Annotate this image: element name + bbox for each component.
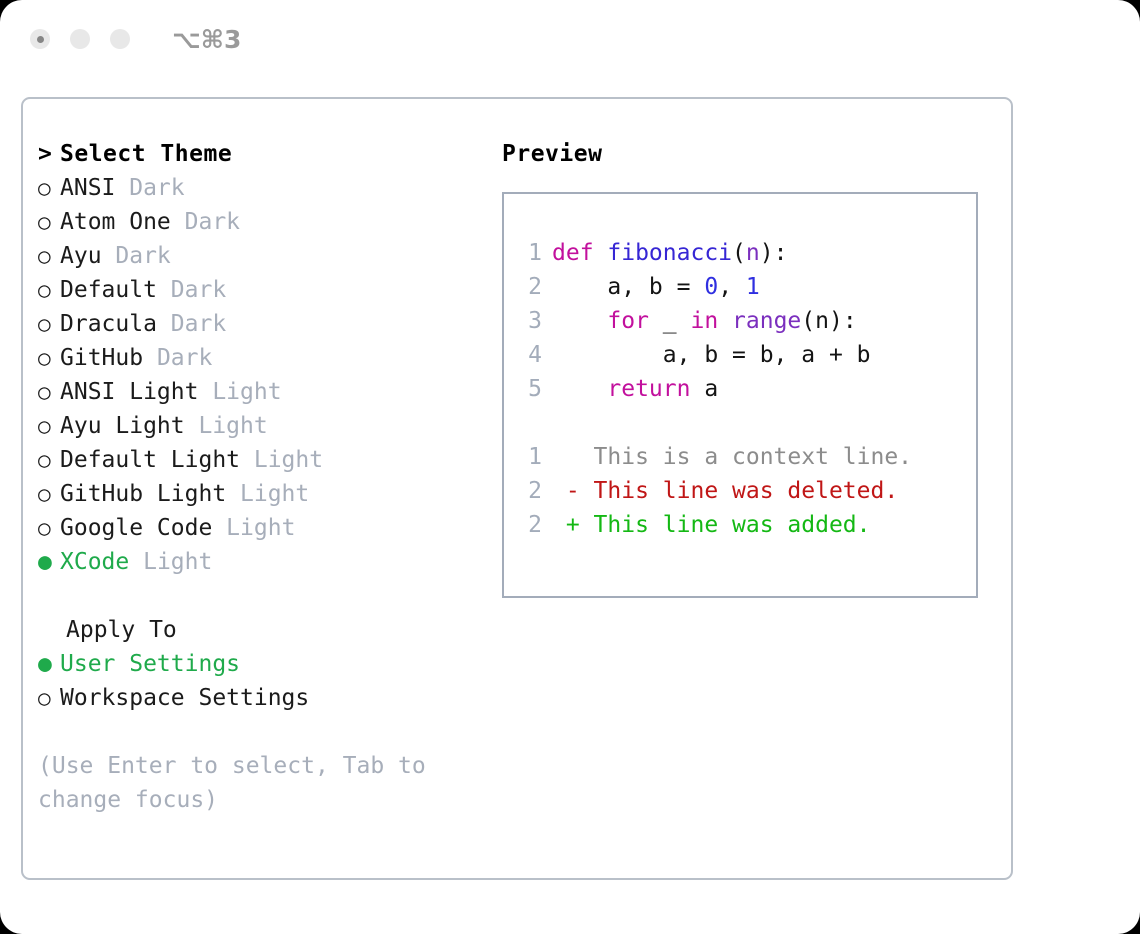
theme-selector-column: >Select Theme ○ANSI Dark○Atom One Dark○A…: [38, 137, 488, 817]
apply-to-heading: Apply To: [38, 613, 488, 647]
code-token: for: [607, 308, 649, 334]
code-token: 1: [746, 274, 760, 300]
apply-to-list-item[interactable]: ●User Settings: [38, 647, 488, 681]
radio-selected-icon[interactable]: ●: [38, 647, 60, 681]
line-number: 4: [516, 338, 542, 372]
theme-list-item[interactable]: ○Dracula Dark: [38, 307, 488, 341]
code-line: 2 + This line was added.: [516, 508, 976, 542]
theme-kind-label: Dark: [157, 311, 226, 337]
code-line: 3 for _ in range(n):: [516, 304, 976, 338]
apply-to-label: Workspace Settings: [60, 685, 309, 711]
theme-kind-label: Light: [226, 481, 309, 507]
code-line: 4 a, b = b, a + b: [516, 338, 976, 372]
radio-unselected-icon[interactable]: ○: [38, 477, 60, 511]
code-line: 5 return a: [516, 372, 976, 406]
line-number: 2: [516, 270, 542, 304]
theme-name-label: ANSI: [60, 175, 115, 201]
code-token: 0: [704, 274, 718, 300]
radio-unselected-icon[interactable]: ○: [38, 171, 60, 205]
theme-list-item[interactable]: ●XCode Light: [38, 545, 488, 579]
code-token: fibonacci: [607, 240, 732, 266]
radio-unselected-icon[interactable]: ○: [38, 273, 60, 307]
theme-name-label: Google Code: [60, 515, 212, 541]
code-token: return: [607, 376, 690, 402]
code-token: def: [552, 240, 607, 266]
theme-name-label: XCode: [60, 549, 129, 575]
code-line: 2 - This line was deleted.: [516, 474, 976, 508]
theme-kind-label: Light: [129, 549, 212, 575]
code-line: 1 This is a context line.: [516, 440, 976, 474]
radio-unselected-icon[interactable]: ○: [38, 409, 60, 443]
theme-kind-label: Light: [240, 447, 323, 473]
line-number: 5: [516, 372, 542, 406]
active-indicator-dot: [37, 36, 44, 43]
code-token: (n):: [801, 308, 856, 334]
list-spacer: [38, 579, 488, 613]
code-token: n: [746, 240, 760, 266]
theme-list-item[interactable]: ○GitHub Dark: [38, 341, 488, 375]
theme-kind-label: Dark: [171, 209, 240, 235]
theme-list-item[interactable]: ○Atom One Dark: [38, 205, 488, 239]
code-token: This is a context line.: [552, 444, 912, 470]
code-token: range: [732, 308, 801, 334]
select-theme-heading-label: Select Theme: [60, 141, 232, 167]
radio-unselected-icon[interactable]: ○: [38, 511, 60, 545]
line-number: 3: [516, 304, 542, 338]
theme-name-label: Ayu: [60, 243, 102, 269]
hint-spacer: [38, 715, 488, 749]
code-token: [552, 308, 607, 334]
radio-unselected-icon[interactable]: ○: [38, 375, 60, 409]
preview-title: Preview: [502, 137, 1002, 171]
theme-list-item[interactable]: ○Default Dark: [38, 273, 488, 307]
app-window: ⌥⌘3 >Select Theme ○ANSI Dark○Atom One Da…: [0, 0, 1140, 934]
code-token: a, b =: [552, 274, 704, 300]
select-theme-heading: >Select Theme: [38, 137, 488, 171]
radio-unselected-icon[interactable]: ○: [38, 681, 60, 715]
window-minimize-dot[interactable]: [70, 29, 90, 49]
theme-kind-label: Light: [185, 413, 268, 439]
code-token: - This line was deleted.: [552, 478, 898, 504]
theme-kind-label: Light: [198, 379, 281, 405]
window-maximize-dot[interactable]: [110, 29, 130, 49]
radio-selected-icon[interactable]: ●: [38, 545, 60, 579]
theme-list-item[interactable]: ○Default Light Light: [38, 443, 488, 477]
apply-to-list: ●User Settings○Workspace Settings: [38, 647, 488, 715]
line-number: 2: [516, 474, 542, 508]
theme-name-label: Dracula: [60, 311, 157, 337]
code-token: ,: [718, 274, 746, 300]
apply-to-list-item[interactable]: ○Workspace Settings: [38, 681, 488, 715]
theme-list-item[interactable]: ○ANSI Dark: [38, 171, 488, 205]
keyboard-hint-text: (Use Enter to select, Tab to change focu…: [38, 749, 458, 817]
code-preview-box: 1def fibonacci(n):2 a, b = 0, 13 for _ i…: [502, 192, 978, 598]
theme-kind-label: Light: [212, 515, 295, 541]
theme-list-item[interactable]: ○Ayu Light Light: [38, 409, 488, 443]
code-token: [552, 376, 607, 402]
keyboard-shortcut-label: ⌥⌘3: [172, 25, 241, 54]
line-number: 1: [516, 236, 542, 270]
theme-list-item[interactable]: ○Ayu Dark: [38, 239, 488, 273]
window-close-dot[interactable]: [30, 29, 50, 49]
apply-to-label: User Settings: [60, 651, 240, 677]
theme-name-label: Ayu Light: [60, 413, 185, 439]
radio-unselected-icon[interactable]: ○: [38, 307, 60, 341]
theme-kind-label: Dark: [157, 277, 226, 303]
traffic-light-group: [30, 29, 130, 49]
code-token: a, b = b, a + b: [552, 342, 871, 368]
title-bar: ⌥⌘3: [0, 0, 1140, 78]
radio-unselected-icon[interactable]: ○: [38, 239, 60, 273]
radio-unselected-icon[interactable]: ○: [38, 443, 60, 477]
code-token: + This line was added.: [552, 512, 871, 538]
code-token: in: [690, 308, 718, 334]
theme-name-label: GitHub Light: [60, 481, 226, 507]
code-token: _: [649, 308, 691, 334]
code-token: ):: [760, 240, 788, 266]
theme-kind-label: Dark: [115, 175, 184, 201]
line-number: 1: [516, 440, 542, 474]
main-panel: >Select Theme ○ANSI Dark○Atom One Dark○A…: [21, 97, 1013, 880]
theme-list: ○ANSI Dark○Atom One Dark○Ayu Dark○Defaul…: [38, 171, 488, 579]
code-line: 1def fibonacci(n):: [516, 236, 976, 270]
theme-list-item[interactable]: ○ANSI Light Light: [38, 375, 488, 409]
radio-unselected-icon[interactable]: ○: [38, 205, 60, 239]
code-token: [552, 410, 566, 436]
code-token: a: [690, 376, 718, 402]
code-line: [516, 406, 976, 440]
line-number: 2: [516, 508, 542, 542]
theme-kind-label: Dark: [102, 243, 171, 269]
theme-name-label: Atom One: [60, 209, 171, 235]
theme-kind-label: Dark: [143, 345, 212, 371]
code-token: [718, 308, 732, 334]
caret-icon: >: [38, 137, 60, 171]
radio-unselected-icon[interactable]: ○: [38, 341, 60, 375]
theme-name-label: ANSI Light: [60, 379, 198, 405]
preview-column: Preview 1def fibonacci(n):2 a, b = 0, 13…: [502, 137, 1002, 598]
code-token: (: [732, 240, 746, 266]
theme-list-item[interactable]: ○Google Code Light: [38, 511, 488, 545]
code-line: 2 a, b = 0, 1: [516, 270, 976, 304]
apply-to-heading-label: Apply To: [66, 617, 177, 643]
theme-name-label: Default Light: [60, 447, 240, 473]
theme-name-label: GitHub: [60, 345, 143, 371]
theme-list-item[interactable]: ○GitHub Light Light: [38, 477, 488, 511]
theme-name-label: Default: [60, 277, 157, 303]
